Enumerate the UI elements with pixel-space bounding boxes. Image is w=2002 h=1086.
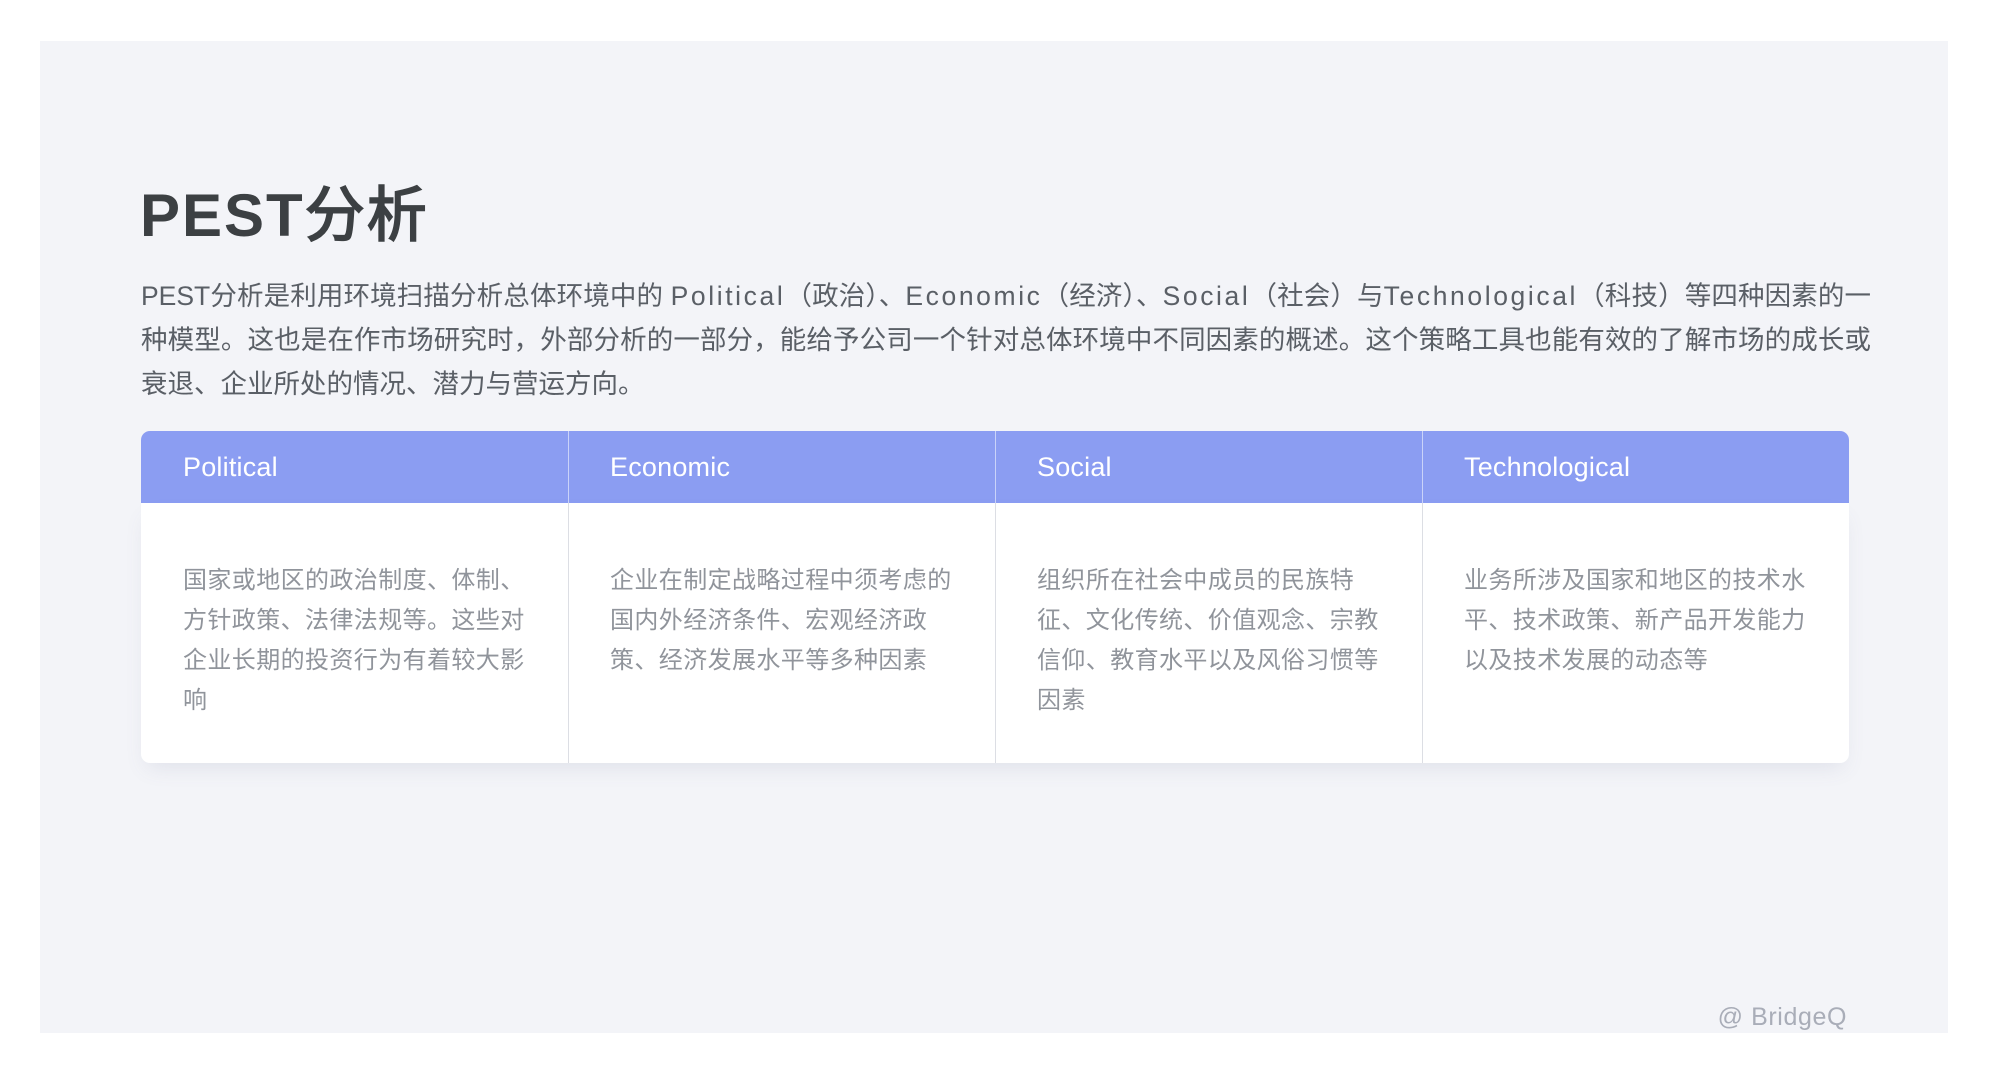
intro-term-technological: Technological — [1384, 281, 1578, 311]
table-header-political: Political — [141, 431, 568, 503]
watermark: @ BridgeQ — [1718, 1003, 1847, 1032]
table-cell-economic: 企业在制定战略过程中须考虑的国内外经济条件、宏观经济政策、经济发展水平等多种因素 — [568, 503, 995, 763]
intro-paragraph: PEST分析是利用环境扫描分析总体环境中的 Political（政治）、Econ… — [141, 274, 1871, 406]
table-row: 国家或地区的政治制度、体制、方针政策、法律法规等。这些对企业长期的投资行为有着较… — [141, 503, 1849, 763]
intro-term-social: Social — [1163, 281, 1251, 311]
table-header-technological: Technological — [1422, 431, 1849, 503]
pest-table: Political Economic Social Technological … — [141, 431, 1849, 763]
slide-panel: PEST分析 PEST分析是利用环境扫描分析总体环境中的 Political（政… — [40, 41, 1948, 1033]
table-cell-social: 组织所在社会中成员的民族特征、文化传统、价值观念、宗教信仰、教育水平以及风俗习惯… — [995, 503, 1422, 763]
intro-segment-1: PEST分析是利用环境扫描分析总体环境中的 — [141, 281, 671, 311]
table-header-row: Political Economic Social Technological — [141, 431, 1849, 503]
intro-segment-4: （社会）与 — [1250, 281, 1383, 311]
page-title: PEST分析 — [140, 181, 429, 250]
intro-segment-3: （经济）、 — [1043, 281, 1163, 311]
table-header-social: Social — [995, 431, 1422, 503]
table-cell-political: 国家或地区的政治制度、体制、方针政策、法律法规等。这些对企业长期的投资行为有着较… — [141, 503, 568, 763]
intro-term-political: Political — [671, 281, 786, 311]
table-header-economic: Economic — [568, 431, 995, 503]
intro-segment-2: （政治）、 — [785, 281, 905, 311]
intro-term-economic: Economic — [905, 281, 1042, 311]
table-cell-technological: 业务所涉及国家和地区的技术水平、技术政策、新产品开发能力以及技术发展的动态等 — [1422, 503, 1849, 763]
slide-canvas: PEST分析 PEST分析是利用环境扫描分析总体环境中的 Political（政… — [0, 0, 2002, 1086]
